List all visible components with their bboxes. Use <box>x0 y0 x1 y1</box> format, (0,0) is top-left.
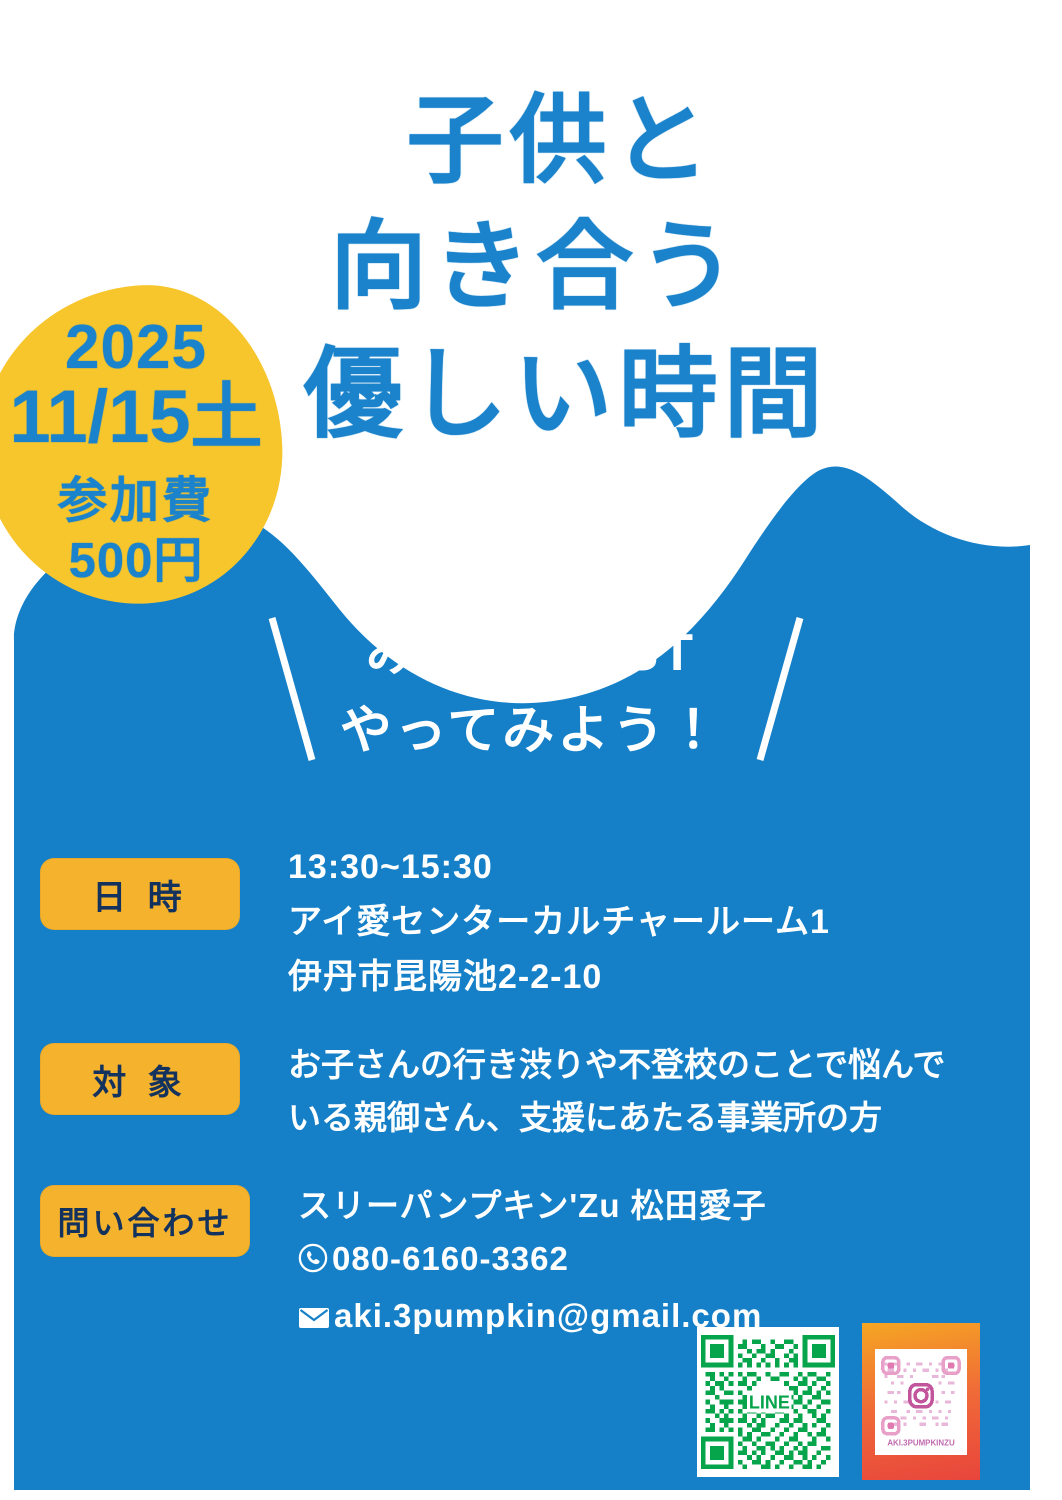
date-badge-content: 2025 11/15土 参加費 500円 <box>0 318 286 589</box>
contact-phone-row: 080-6160-3362 <box>298 1232 1062 1288</box>
detail-row-datetime: 日 時 13:30~15:30 アイ愛センターカルチャールーム1 伊丹市昆陽池2… <box>0 840 1062 1005</box>
poster-subtitle: みんなでSST やってみよう！ <box>0 614 1062 770</box>
target-line-2: いる親御さん、支援にあたる事業所の方 <box>288 1092 1062 1145</box>
poster-root: 子供と 向き合う 優しい時間 2025 11/15土 参加費 500円 みんなで… <box>0 0 1062 1500</box>
envelope-icon <box>298 1292 330 1345</box>
subtitle-line-2: やってみよう！ <box>0 692 1062 770</box>
title-line-1: 子供と <box>0 78 1062 204</box>
instagram-qr-code[interactable]: AKI.3PUMPKINZU <box>862 1323 980 1480</box>
badge-target: 対 象 <box>40 1043 240 1115</box>
detail-body-target: お子さんの行き渋りや不登校のことで悩んで いる親御さん、支援にあたる事業所の方 <box>288 1039 1062 1145</box>
badge-contact: 問い合わせ <box>40 1185 250 1257</box>
event-date-number: 11/15 <box>9 375 190 458</box>
title-line-2: 向き合う <box>0 204 1062 330</box>
event-details: 日 時 13:30~15:30 アイ愛センターカルチャールーム1 伊丹市昆陽池2… <box>0 840 1062 1379</box>
line-qr-code[interactable]: LINE <box>697 1327 839 1477</box>
detail-row-target: 対 象 お子さんの行き渋りや不登校のことで悩んで いる親御さん、支援にあたる事業… <box>0 1039 1062 1145</box>
fee-label: 参加費 <box>0 468 286 534</box>
contact-organization: スリーパンプキン'Zu 松田愛子 <box>298 1179 1062 1232</box>
phone-icon <box>298 1235 328 1288</box>
line-qr-wordmark: LINE <box>749 1392 790 1412</box>
event-address: 伊丹市昆陽池2-2-10 <box>288 950 1062 1005</box>
detail-body-contact: スリーパンプキン'Zu 松田愛子 080-6160-3362 <box>298 1179 1062 1345</box>
instagram-qr-handle: AKI.3PUMPKINZU <box>887 1438 955 1447</box>
contact-phone-number[interactable]: 080-6160-3362 <box>332 1240 569 1277</box>
fee-amount: 500円 <box>0 534 286 589</box>
subtitle-line-1: みんなでSST <box>0 614 1062 692</box>
event-year: 2025 <box>0 318 286 378</box>
event-day-of-week: 土 <box>191 378 263 458</box>
detail-body-datetime: 13:30~15:30 アイ愛センターカルチャールーム1 伊丹市昆陽池2-2-1… <box>288 840 1062 1005</box>
badge-datetime: 日 時 <box>40 858 240 930</box>
target-line-1: お子さんの行き渋りや不登校のことで悩んで <box>288 1039 1062 1092</box>
detail-row-contact: 問い合わせ スリーパンプキン'Zu 松田愛子 080-6160-3362 <box>0 1179 1062 1345</box>
event-date: 11/15土 <box>0 380 286 454</box>
instagram-qr-inner: AKI.3PUMPKINZU <box>875 1349 967 1455</box>
event-time: 13:30~15:30 <box>288 840 1062 895</box>
event-venue: アイ愛センターカルチャールーム1 <box>288 895 1062 950</box>
